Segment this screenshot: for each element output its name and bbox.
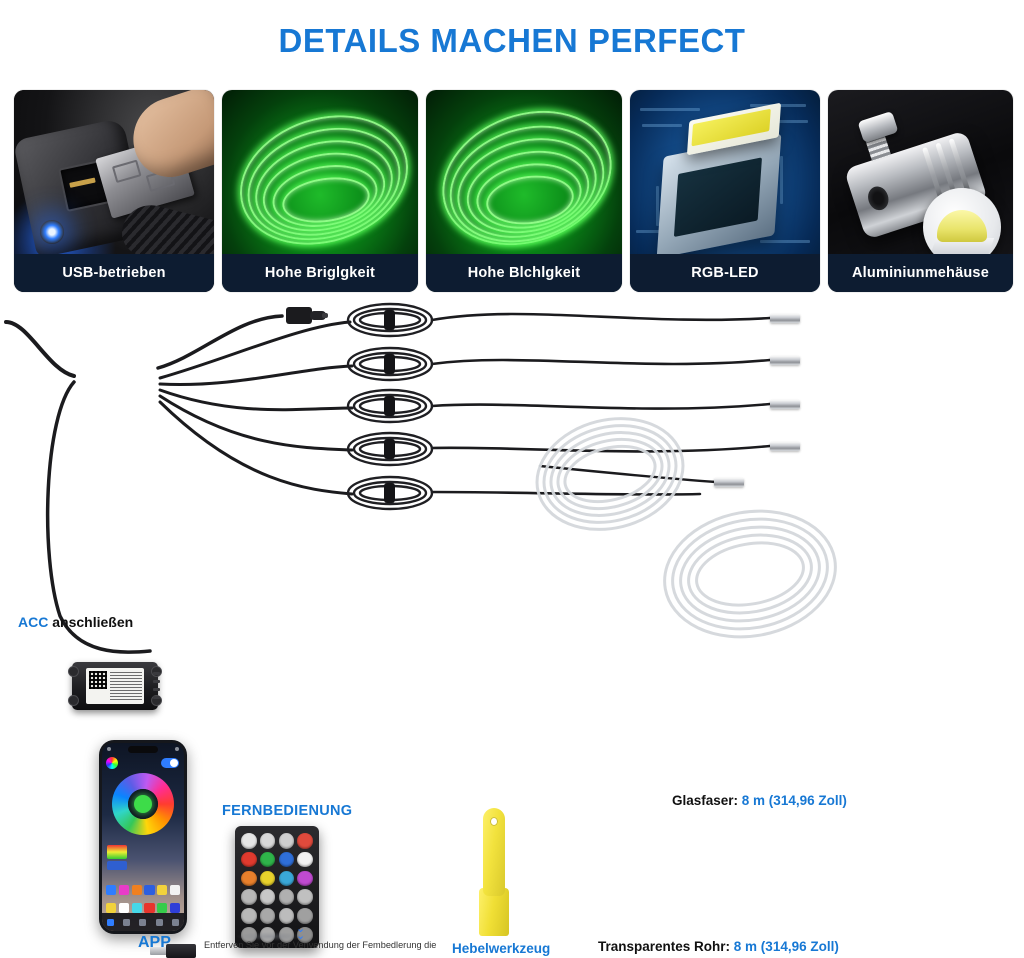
remote-power-button[interactable] xyxy=(297,833,313,849)
app-tab-1[interactable] xyxy=(107,919,114,926)
remote-button[interactable] xyxy=(297,889,313,905)
phone-mockup[interactable] xyxy=(99,740,187,934)
remote-button[interactable] xyxy=(241,852,257,868)
connector-tip xyxy=(770,314,800,323)
phone-notch xyxy=(128,746,158,753)
label-pry-tool: Hebelwerkzeug xyxy=(452,941,550,956)
remote-button[interactable] xyxy=(297,908,313,924)
label-fiber-text: Glasfaser: xyxy=(672,793,742,808)
feature-card-caption: Aluminiunmehäuse xyxy=(828,254,1013,292)
app-swatch-row-2[interactable] xyxy=(106,903,180,913)
dc-barrel-plug-icon xyxy=(286,307,328,324)
remote-button[interactable] xyxy=(241,908,257,924)
connector-tip xyxy=(770,442,800,451)
remote-button[interactable] xyxy=(260,871,276,887)
feature-card-aluminium[interactable]: Aluminiunmehäuse xyxy=(828,90,1013,292)
remote-button[interactable] xyxy=(279,889,295,905)
label-remote: FERNBEDIENUNG xyxy=(222,803,352,819)
qr-code-icon xyxy=(89,671,107,689)
app-tab-5[interactable] xyxy=(172,919,179,926)
connector-tip xyxy=(714,478,744,487)
feature-card-rgb-led[interactable]: RGB-LED xyxy=(630,90,820,292)
remote-button[interactable] xyxy=(260,908,276,924)
remote-button[interactable] xyxy=(279,833,295,849)
chevron-down-icon: ⌄⌄ xyxy=(296,926,305,940)
remote-button[interactable] xyxy=(279,852,295,868)
label-acc-accent: ACC xyxy=(18,614,48,630)
remote-control[interactable] xyxy=(235,826,319,948)
remote-button[interactable] xyxy=(241,833,257,849)
feature-card-caption: USB-betrieben xyxy=(14,254,214,292)
remote-button[interactable] xyxy=(260,852,276,868)
page-title: DETAILS MACHEN PERFECT xyxy=(0,22,1024,60)
app-color-preview xyxy=(134,795,152,813)
remote-button[interactable] xyxy=(279,908,295,924)
label-fiber-value: 8 m (314,96 Zoll) xyxy=(742,793,847,808)
remote-note: Entferven Sie vor der Venvendung der Fem… xyxy=(204,939,380,951)
connector-tip xyxy=(770,356,800,365)
transparent-tube-coil-lower xyxy=(655,498,846,650)
app-power-toggle[interactable] xyxy=(161,758,179,768)
feature-card-caption: Hohe Blchlgkeit xyxy=(426,254,622,292)
label-fiber: Glasfaser: 8 m (314,96 Zoll) xyxy=(672,793,847,808)
product-contents-diagram: ⌄⌄ ACC anschließen FERNBEDIENUNG APP Heb… xyxy=(0,296,1024,683)
connector-tip xyxy=(770,400,800,409)
app-swatch-row-1[interactable] xyxy=(106,885,180,895)
app-tab-4[interactable] xyxy=(156,919,163,926)
app-tab-3[interactable] xyxy=(139,919,146,926)
feature-card-caption: Hohe Briglgkeit xyxy=(222,254,418,292)
controller-box[interactable] xyxy=(72,662,158,710)
app-solid-preset[interactable] xyxy=(107,861,127,870)
label-acc-rest: anschließen xyxy=(48,614,133,630)
remote-button[interactable] xyxy=(297,852,313,868)
remote-button[interactable] xyxy=(279,871,295,887)
app-color-mode-icon[interactable] xyxy=(106,757,118,769)
feature-card-brightness-2[interactable]: Hohe Blchlgkeit xyxy=(426,90,622,292)
remote-button[interactable] xyxy=(260,833,276,849)
remote-button[interactable] xyxy=(241,889,257,905)
label-app: APP xyxy=(138,934,171,952)
remote-button[interactable] xyxy=(260,889,276,905)
controller-qr-label xyxy=(86,668,144,704)
feature-card-brightness-1[interactable]: Hohe Briglgkeit xyxy=(222,90,418,292)
feature-card-usb[interactable]: USB-betrieben xyxy=(14,90,214,292)
feature-card-caption: RGB-LED xyxy=(630,254,820,292)
label-tube-value: 8 m (314,96 Zoll) xyxy=(734,939,839,954)
label-acc: ACC anschließen xyxy=(18,614,133,630)
remote-button[interactable] xyxy=(241,871,257,887)
app-gradient-preset[interactable] xyxy=(107,845,127,859)
wiring-illustration xyxy=(0,296,1024,683)
label-tube: Transparentes Rohr: 8 m (314,96 Zoll) xyxy=(598,939,839,954)
app-tab-2[interactable] xyxy=(123,919,130,926)
remote-button[interactable] xyxy=(297,871,313,887)
label-tube-text: Transparentes Rohr: xyxy=(598,939,734,954)
app-tab-bar[interactable] xyxy=(102,913,184,931)
pry-tool xyxy=(479,808,509,936)
feature-card-strip: USB-betrieben Hohe Briglgkeit Hohe Blchl… xyxy=(14,90,1014,292)
